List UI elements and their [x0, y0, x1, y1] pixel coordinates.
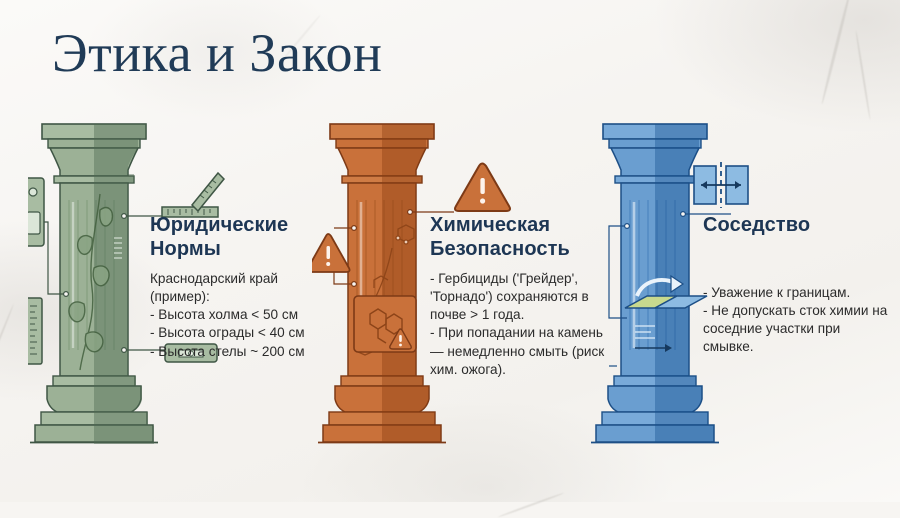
- text-block-chemical-safety: Химическая Безопасность - Гербициды ('Гр…: [430, 214, 612, 379]
- column-body-chemical-safety: - Гербициды ('Грейдер', 'Торнадо') сохра…: [430, 270, 612, 378]
- page-title: Этика и Закон: [52, 26, 382, 80]
- column-heading-legal-norms: Юридические Нормы: [150, 214, 325, 261]
- property-boundary-icon: [691, 160, 751, 212]
- marble-vein: [821, 0, 853, 105]
- molecule-hexagon-icon: [354, 296, 416, 352]
- slide-canvas: Этика и Закон: [0, 0, 900, 502]
- text-block-neighborhood: Соседство - Уважение к границам. - Не до…: [703, 214, 893, 356]
- marble-vein: [0, 304, 15, 407]
- spirit-level-icon: [28, 178, 44, 246]
- marble-vein: [855, 30, 871, 119]
- vertical-ruler-icon: [28, 298, 42, 364]
- column-heading-neighborhood: Соседство: [703, 214, 893, 238]
- marble-vein: [498, 492, 564, 518]
- column-body-legal-norms: Краснодарский край (пример): - Высота хо…: [150, 270, 325, 360]
- text-block-legal-norms: Юридические Нормы Краснодарский край (пр…: [150, 214, 325, 361]
- column-body-neighborhood: - Уважение к границам. - Не допускать ст…: [703, 284, 893, 356]
- warning-triangle-icon: [452, 158, 514, 214]
- column-heading-chemical-safety: Химическая Безопасность: [430, 214, 612, 261]
